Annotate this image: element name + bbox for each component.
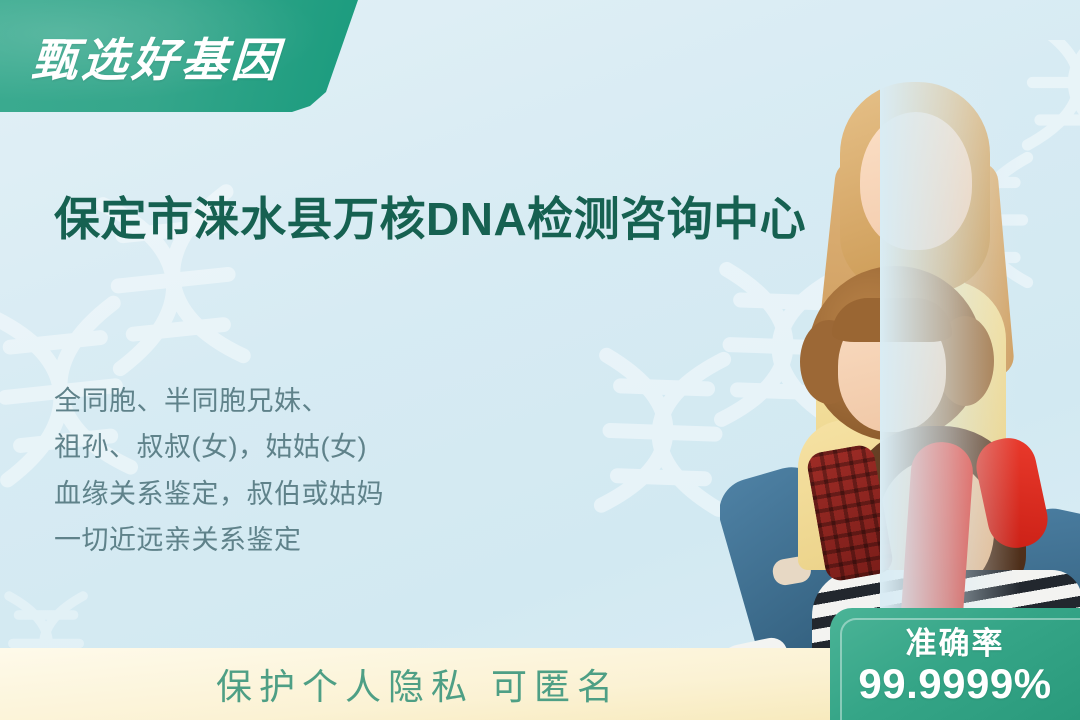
- service-description: 全同胞、半同胞兄妹、 祖孙、叔叔(女)，姑姑(女) 血缘关系鉴定，叔伯或姑妈 一…: [54, 378, 574, 564]
- description-line: 祖孙、叔叔(女)，姑姑(女): [54, 424, 574, 470]
- logo-text: 甄选好基因: [30, 24, 285, 90]
- description-line: 全同胞、半同胞兄妹、: [54, 378, 574, 424]
- accuracy-value: 99.9999%: [830, 660, 1080, 708]
- children-photo: [720, 70, 1080, 660]
- description-line: 一切近远亲关系鉴定: [54, 517, 574, 563]
- accuracy-badge: 准确率 99.9999%: [830, 608, 1080, 720]
- privacy-banner-text: 保护个人隐私 可匿名: [0, 648, 836, 720]
- description-line: 血缘关系鉴定，叔伯或姑妈: [54, 471, 574, 517]
- child-mid-bangs: [832, 298, 952, 342]
- accuracy-label: 准确率: [830, 618, 1080, 663]
- child-top-face: [860, 112, 972, 250]
- promo-poster: 甄选好基因 保定市涞水县万核DNA检测咨询中心 全同胞、半同胞兄妹、 祖孙、叔叔…: [0, 0, 1080, 720]
- page-title: 保定市涞水县万核DNA检测咨询中心: [54, 189, 824, 250]
